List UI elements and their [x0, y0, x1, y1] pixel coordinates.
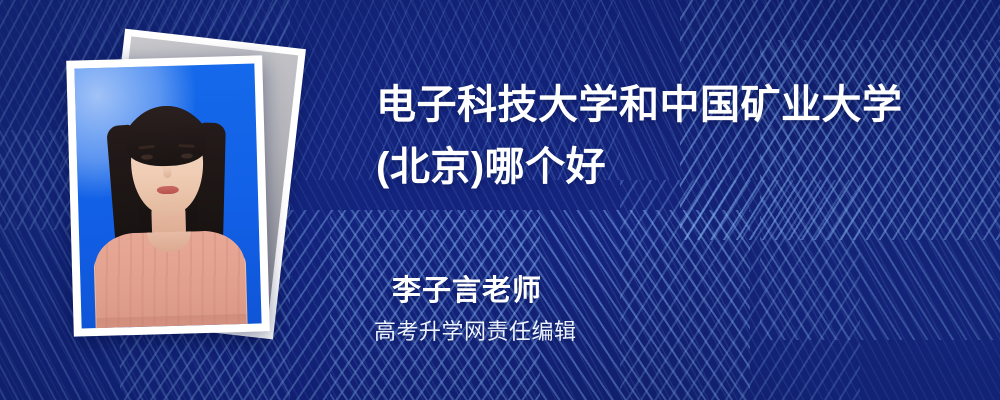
portrait-hair-front — [126, 105, 208, 167]
author-portrait — [74, 64, 261, 329]
banner-text-column: 电子科技大学和中国矿业大学(北京)哪个好 李子言老师 高考升学网责任编辑 — [376, 0, 976, 400]
photo-card-stack — [60, 30, 360, 370]
author-byline: 李子言老师 高考升学网责任编辑 — [392, 272, 577, 346]
promo-banner: 电子科技大学和中国矿业大学(北京)哪个好 李子言老师 高考升学网责任编辑 — [0, 0, 1000, 400]
author-role: 高考升学网责任编辑 — [374, 318, 577, 346]
portrait-nose — [163, 166, 171, 178]
author-name: 李子言老师 — [392, 272, 577, 310]
page-title: 电子科技大学和中国矿业大学(北京)哪个好 — [376, 74, 952, 198]
portrait-eyebrow-right — [179, 144, 195, 148]
portrait-figure — [74, 64, 261, 329]
photo-card-front — [66, 55, 270, 336]
